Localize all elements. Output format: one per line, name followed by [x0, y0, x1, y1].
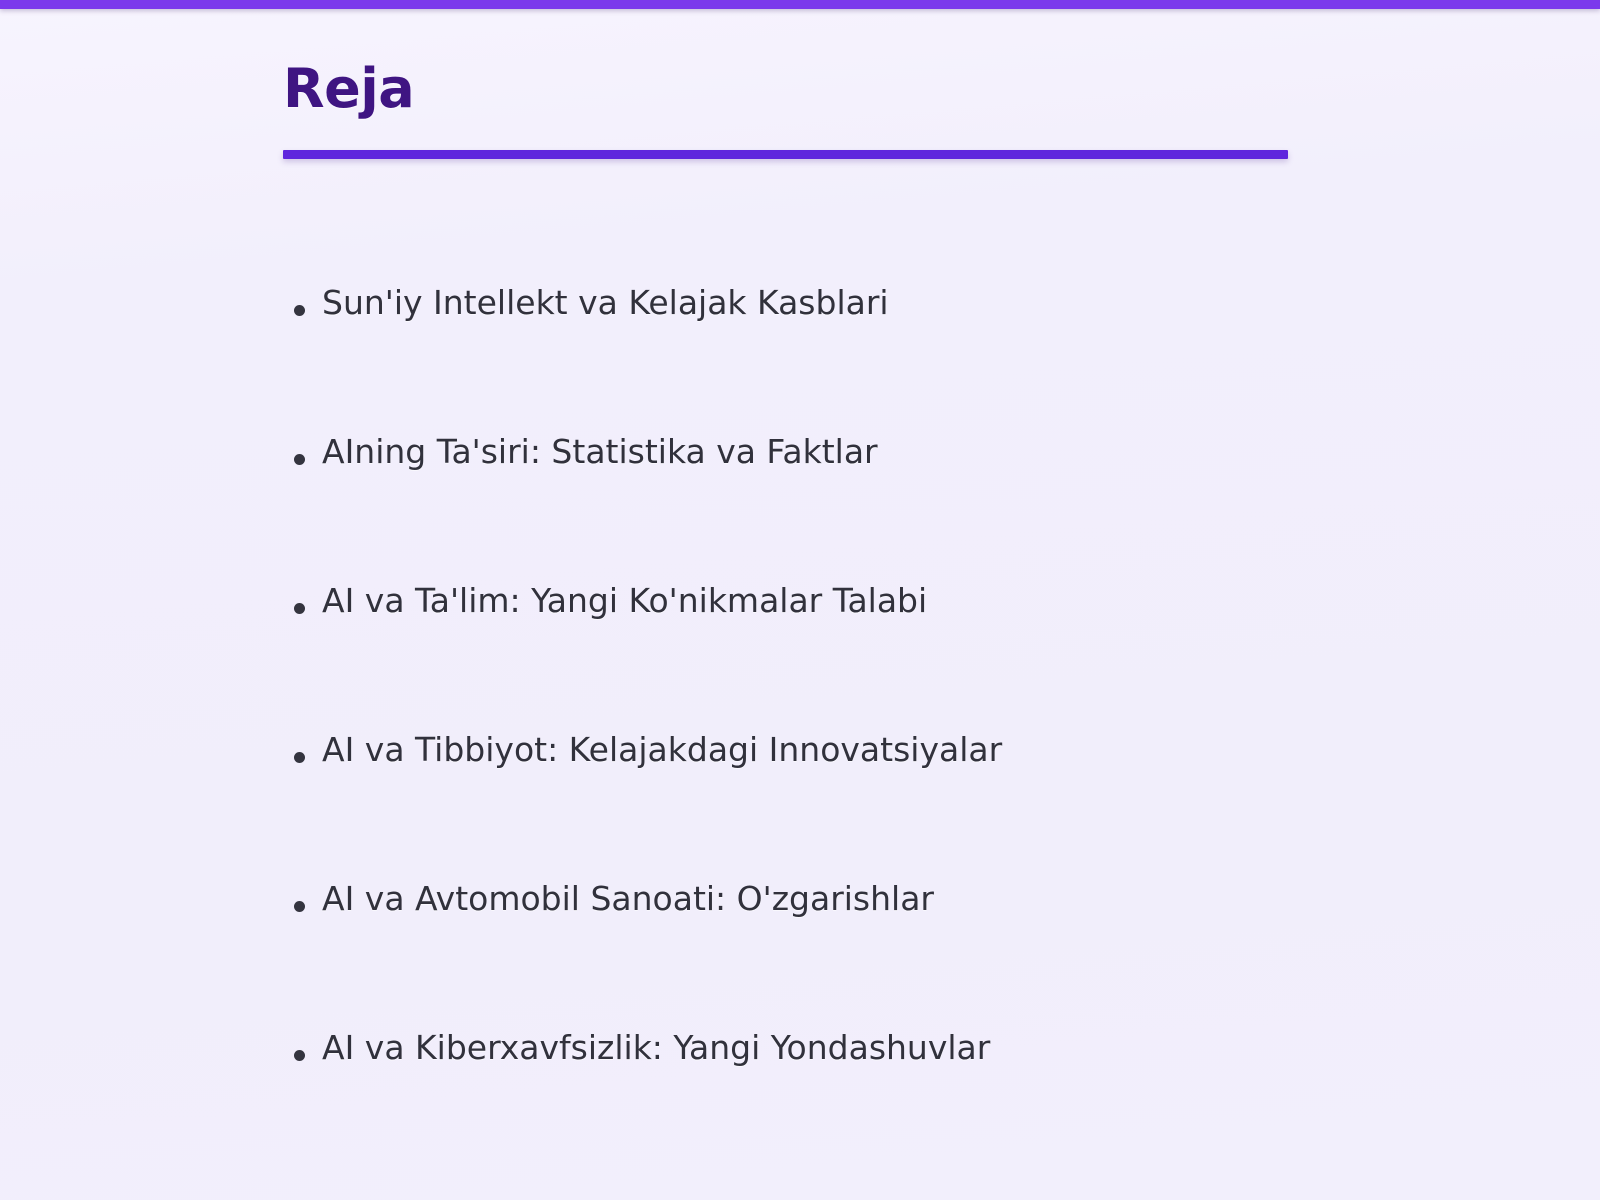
title-block: Reja: [283, 60, 1293, 159]
top-accent-bar: [0, 0, 1600, 9]
list-item-label: AI va Avtomobil Sanoati: O'zgarishlar: [322, 854, 934, 915]
bullet-dot-icon: [294, 603, 305, 614]
list-item-label: AIning Ta'siri: Statistika va Faktlar: [322, 407, 878, 468]
list-item-label: AI va Kiberxavfsizlik: Yangi Yondashuvla…: [322, 1003, 990, 1064]
list-item-label: AI va Ta'lim: Yangi Ko'nikmalar Talabi: [322, 556, 927, 617]
bullet-dot-icon: [294, 901, 305, 912]
list-item: Sun'iy Intellekt va Kelajak Kasblari: [291, 258, 1441, 407]
list-item: AIning Ta'siri: Statistika va Faktlar: [291, 407, 1441, 556]
list-item-label: AI va Tibbiyot: Kelajakdagi Innovatsiyal…: [322, 705, 1002, 766]
bullet-dot-icon: [294, 1050, 305, 1061]
title-underline-rule: [283, 150, 1288, 159]
page-title: Reja: [283, 60, 1293, 117]
list-item: AI va Avtomobil Sanoati: O'zgarishlar: [291, 854, 1441, 1003]
list-item-label: Sun'iy Intellekt va Kelajak Kasblari: [322, 258, 889, 319]
list-item: AI va Tibbiyot: Kelajakdagi Innovatsiyal…: [291, 705, 1441, 854]
list-item: AI va Kiberxavfsizlik: Yangi Yondashuvla…: [291, 1003, 1441, 1152]
bullet-dot-icon: [294, 454, 305, 465]
bullet-dot-icon: [294, 305, 305, 316]
agenda-bullet-list: Sun'iy Intellekt va Kelajak Kasblari AIn…: [291, 258, 1441, 1152]
bullet-dot-icon: [294, 752, 305, 763]
list-item: AI va Ta'lim: Yangi Ko'nikmalar Talabi: [291, 556, 1441, 705]
presentation-slide: Reja Sun'iy Intellekt va Kelajak Kasblar…: [0, 0, 1600, 1200]
